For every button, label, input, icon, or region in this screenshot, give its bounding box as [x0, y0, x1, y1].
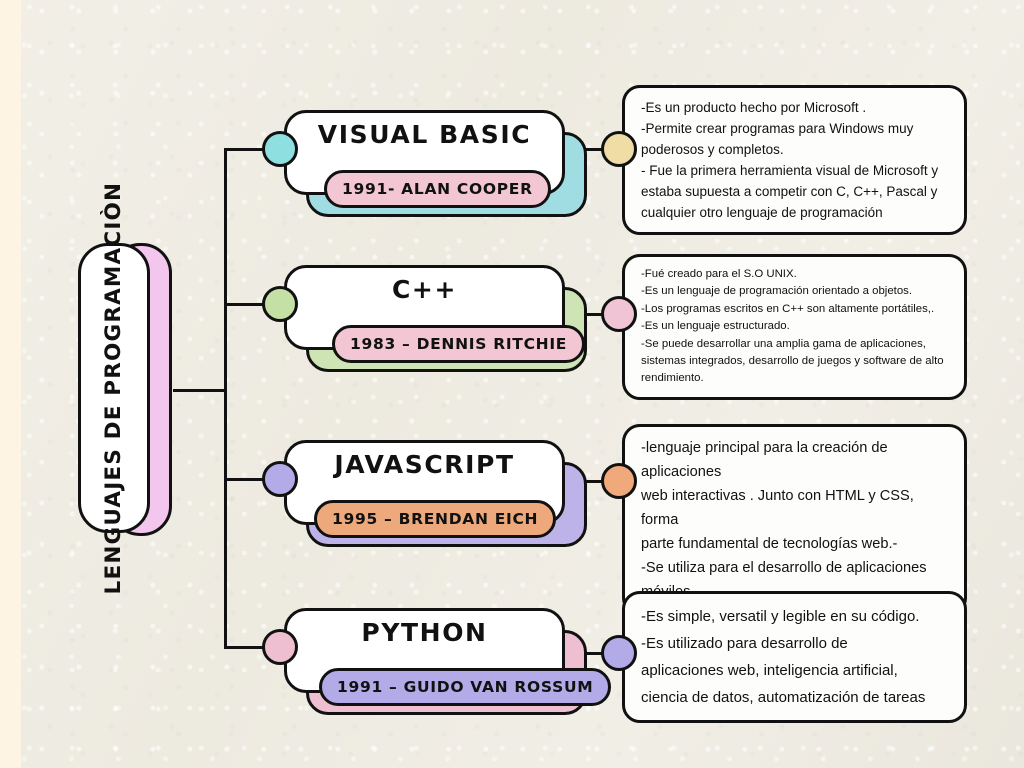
- branch-title-python: PYTHON: [284, 618, 565, 647]
- branch-title-visual-basic: VISUAL BASIC: [284, 120, 565, 149]
- desc-line: web interactivas . Junto con HTML y CSS,…: [641, 484, 950, 532]
- root-node[interactable]: LENGUAJES DE PROGRAMACIÒN: [78, 243, 173, 536]
- branch-circle-visual-basic[interactable]: [262, 131, 298, 167]
- connector-trunk: [224, 148, 227, 648]
- desc-circle-javascript[interactable]: [601, 463, 637, 499]
- desc-line: -Es un lenguaje de programación orientad…: [641, 283, 950, 300]
- branch-title-cpp: C++: [284, 275, 565, 304]
- description-visual-basic: -Es un producto hecho por Microsoft . -P…: [622, 85, 967, 235]
- desc-line: -lenguaje principal para la creación de …: [641, 436, 950, 484]
- desc-line: poderosos y completos.: [641, 139, 950, 160]
- desc-line: -Fué creado para el S.O UNIX.: [641, 266, 950, 283]
- desc-line: parte fundamental de tecnologías web.-: [641, 532, 950, 556]
- desc-line: sistemas integrados, desarrollo de juego…: [641, 353, 950, 370]
- branch-circle-cpp[interactable]: [262, 286, 298, 322]
- desc-line: - Fue la primera herramienta visual de M…: [641, 160, 950, 181]
- desc-line: -Es simple, versatil y legible en su cód…: [641, 603, 950, 630]
- branch-badge-javascript[interactable]: 1995 – BRENDAN EICH: [314, 500, 556, 538]
- desc-line: -Es un producto hecho por Microsoft .: [641, 97, 950, 118]
- branch-circle-python[interactable]: [262, 629, 298, 665]
- desc-line: -Es un lenguaje estructurado.: [641, 318, 950, 335]
- desc-line: -Es utilizado para desarrollo de: [641, 630, 950, 657]
- branch-badge-python[interactable]: 1991 – GUIDO VAN ROSSUM: [319, 668, 611, 706]
- branch-badge-cpp[interactable]: 1983 – DENNIS RITCHIE: [332, 325, 585, 363]
- left-margin-strip: [0, 0, 21, 768]
- description-javascript: -lenguaje principal para la creación de …: [622, 424, 967, 616]
- desc-line: -Permite crear programas para Windows mu…: [641, 118, 950, 139]
- desc-line: aplicaciones web, inteligencia artificia…: [641, 657, 950, 684]
- branch-badge-visual-basic[interactable]: 1991- ALAN COOPER: [324, 170, 551, 208]
- branch-title-javascript: JAVASCRIPT: [284, 450, 565, 479]
- desc-line: cualquier otro lenguaje de programación: [641, 202, 950, 223]
- desc-line: ciencia de datos, automatización de tare…: [641, 684, 950, 711]
- desc-line: -Los programas escritos en C++ son altam…: [641, 301, 950, 318]
- desc-circle-visual-basic[interactable]: [601, 131, 637, 167]
- page-title: LENGUAJES DE PROGRAMACIÒN: [101, 182, 127, 595]
- desc-line: rendimiento.: [641, 370, 950, 387]
- desc-circle-python[interactable]: [601, 635, 637, 671]
- description-cpp: -Fué creado para el S.O UNIX. -Es un len…: [622, 254, 967, 400]
- root-card: LENGUAJES DE PROGRAMACIÒN: [78, 243, 150, 533]
- connector-root-stub: [173, 389, 227, 392]
- desc-line: -Se utiliza para el desarrollo de aplica…: [641, 556, 950, 580]
- desc-line: -Se puede desarrollar una amplia gama de…: [641, 336, 950, 353]
- description-python: -Es simple, versatil y legible en su cód…: [622, 591, 967, 723]
- branch-circle-javascript[interactable]: [262, 461, 298, 497]
- desc-line: estaba supuesta a competir con C, C++, P…: [641, 181, 950, 202]
- desc-circle-cpp[interactable]: [601, 296, 637, 332]
